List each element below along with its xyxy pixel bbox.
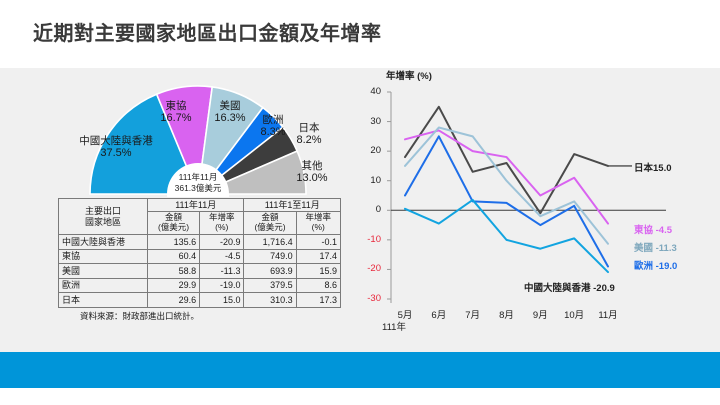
- table-body: 中國大陸與香港135.6-20.91,716.4-0.1東協60.4-4.574…: [59, 235, 341, 308]
- line-series: [405, 107, 608, 213]
- title-bar: 近期對主要國家地區出口金額及年增率: [0, 0, 720, 68]
- y-axis-tick-label: -30: [357, 293, 381, 304]
- bottom-accent-bar: [0, 352, 720, 388]
- table-cell-country: 中國大陸與香港: [59, 235, 148, 250]
- y-axis-tick-label: -10: [357, 234, 381, 245]
- pie-center-label: 111年11月 361.3億美元: [166, 172, 230, 193]
- table-cell-yoy-ytd: -0.1: [296, 235, 340, 250]
- table-cell-amount-ytd: 749.0: [244, 249, 296, 264]
- line-chart-svg: [358, 62, 720, 342]
- line-chart-x-axis-label: 111年: [382, 319, 406, 333]
- y-axis-tick-label: 10: [357, 175, 381, 186]
- table-subheader-amt-nov-l2: (億美元): [151, 223, 196, 233]
- page-title: 近期對主要國家地區出口金額及年增率: [33, 17, 382, 46]
- table-row: 中國大陸與香港135.6-20.91,716.4-0.1: [59, 235, 341, 250]
- table-row: 美國58.8-11.3693.915.9: [59, 264, 341, 279]
- y-axis-tick-label: 30: [357, 116, 381, 127]
- table-cell-yoy-nov: -20.9: [200, 235, 244, 250]
- table-cell-yoy-nov: -19.0: [200, 278, 244, 293]
- table-subheader-yoy-nov: 年增率 (%): [200, 212, 244, 235]
- table-cell-yoy-nov: 15.0: [200, 293, 244, 308]
- table-subheader-amt-ytd-l2: (億美元): [247, 223, 292, 233]
- slide-root: 近期對主要國家地區出口金額及年增率 111年11月 361.3億美元 中國大陸與…: [0, 0, 720, 405]
- table-head-row-1: 主要出口 國家地區 111年11月 111年1至11月: [59, 199, 341, 212]
- table-subheader-amt-ytd: 金額 (億美元): [244, 212, 296, 235]
- table-header-country-l1: 主要出口: [62, 206, 144, 216]
- table-cell-amount-ytd: 693.9: [244, 264, 296, 279]
- export-table: 主要出口 國家地區 111年11月 111年1至11月 金額 (億美元) 年增率…: [58, 198, 341, 308]
- y-axis-tick-label: 0: [357, 204, 381, 215]
- table-group-header-ytd: 111年1至11月: [244, 199, 341, 212]
- pie-center-amount: 361.3億美元: [166, 183, 230, 194]
- source-note: 資料來源：財政部進出口統計。: [80, 310, 341, 322]
- table-cell-amount-ytd: 379.5: [244, 278, 296, 293]
- table-cell-amount-nov: 29.9: [148, 278, 200, 293]
- table-row: 東協60.4-4.5749.017.4: [59, 249, 341, 264]
- table-subheader-yoy-ytd: 年增率 (%): [296, 212, 340, 235]
- table-subheader-amt-nov: 金額 (億美元): [148, 212, 200, 235]
- export-table-wrap: 主要出口 國家地區 111年11月 111年1至11月 金額 (億美元) 年增率…: [58, 198, 341, 322]
- table-cell-yoy-ytd: 17.3: [296, 293, 340, 308]
- line-end-label: 日本15.0: [634, 160, 672, 174]
- table-header-country-l2: 國家地區: [62, 217, 144, 227]
- line-chart-axes: [387, 92, 666, 303]
- x-axis-tick-label: 9月: [525, 307, 555, 321]
- x-axis-tick-label: 10月: [559, 307, 589, 321]
- table-cell-yoy-ytd: 8.6: [296, 278, 340, 293]
- table-cell-amount-nov: 135.6: [148, 235, 200, 250]
- x-axis-tick-label: 11月: [593, 307, 623, 321]
- line-chart-series: [405, 107, 632, 272]
- line-series: [405, 127, 608, 243]
- line-end-label: 東協 -4.5: [634, 222, 672, 236]
- table-cell-amount-nov: 58.8: [148, 264, 200, 279]
- table-row: 歐洲29.9-19.0379.58.6: [59, 278, 341, 293]
- line-end-label: 中國大陸與香港 -20.9: [524, 280, 615, 294]
- line-end-label: 美國 -11.3: [634, 240, 677, 254]
- table-cell-yoy-nov: -11.3: [200, 264, 244, 279]
- table-cell-country: 日本: [59, 293, 148, 308]
- table-cell-yoy-nov: -4.5: [200, 249, 244, 264]
- x-axis-tick-label: 8月: [492, 307, 522, 321]
- line-chart: 年增率 (%) 403020100-10-20-30 5月6月7月8月9月10月…: [358, 62, 720, 342]
- x-axis-tick-label: 6月: [424, 307, 454, 321]
- table-cell-amount-ytd: 1,716.4: [244, 235, 296, 250]
- pie-chart: 111年11月 361.3億美元 中國大陸與香港 37.5% 東協 16.7% …: [48, 72, 348, 197]
- table-subheader-yoy-nov-l2: (%): [203, 223, 240, 233]
- table-cell-country: 東協: [59, 249, 148, 264]
- line-end-label: 歐洲 -19.0: [634, 258, 677, 272]
- table-header-country: 主要出口 國家地區: [59, 199, 148, 235]
- table-cell-amount-ytd: 310.3: [244, 293, 296, 308]
- table-cell-country: 美國: [59, 264, 148, 279]
- table-cell-amount-nov: 60.4: [148, 249, 200, 264]
- pie-center-period: 111年11月: [166, 172, 230, 183]
- table-group-header-nov: 111年11月: [148, 199, 244, 212]
- line-series: [405, 130, 608, 223]
- table-cell-yoy-ytd: 15.9: [296, 264, 340, 279]
- y-axis-tick-label: 20: [357, 145, 381, 156]
- table-cell-country: 歐洲: [59, 278, 148, 293]
- y-axis-tick-label: -20: [357, 263, 381, 274]
- table-cell-yoy-ytd: 17.4: [296, 249, 340, 264]
- table-subheader-yoy-ytd-l2: (%): [300, 223, 337, 233]
- table-row: 日本29.615.0310.317.3: [59, 293, 341, 308]
- y-axis-tick-label: 40: [357, 86, 381, 97]
- table-head: 主要出口 國家地區 111年11月 111年1至11月 金額 (億美元) 年增率…: [59, 199, 341, 235]
- x-axis-tick-label: 7月: [458, 307, 488, 321]
- table-cell-amount-nov: 29.6: [148, 293, 200, 308]
